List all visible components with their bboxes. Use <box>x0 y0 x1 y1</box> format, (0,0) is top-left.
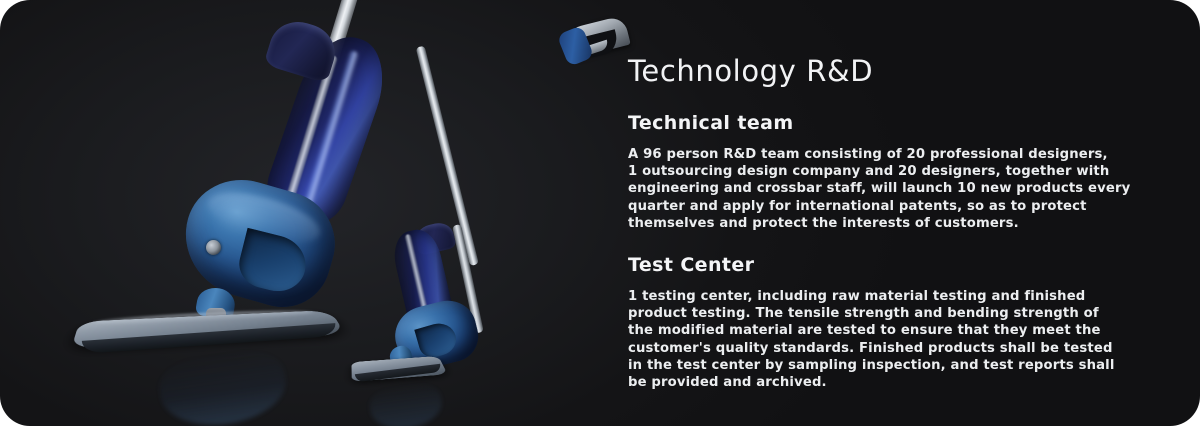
text-panel: Technology R&D Technical team A 96 perso… <box>628 0 1168 426</box>
mop-nozzle-screw <box>206 240 221 255</box>
page-title: Technology R&D <box>628 54 873 88</box>
mop-floor-reflection <box>156 344 291 426</box>
section-heading-test-center: Test Center <box>628 254 754 276</box>
product-small-spray-mop <box>330 0 630 426</box>
section-body-technical-team: A 96 person R&D team consisting of 20 pr… <box>628 146 1158 232</box>
technology-rd-banner: Technology R&D Technical team A 96 perso… <box>0 0 1200 426</box>
product-image-stage <box>0 0 620 426</box>
mop-floor-reflection <box>367 379 444 426</box>
section-body-test-center: 1 testing center, including raw material… <box>628 288 1140 391</box>
section-heading-technical-team: Technical team <box>628 112 794 134</box>
